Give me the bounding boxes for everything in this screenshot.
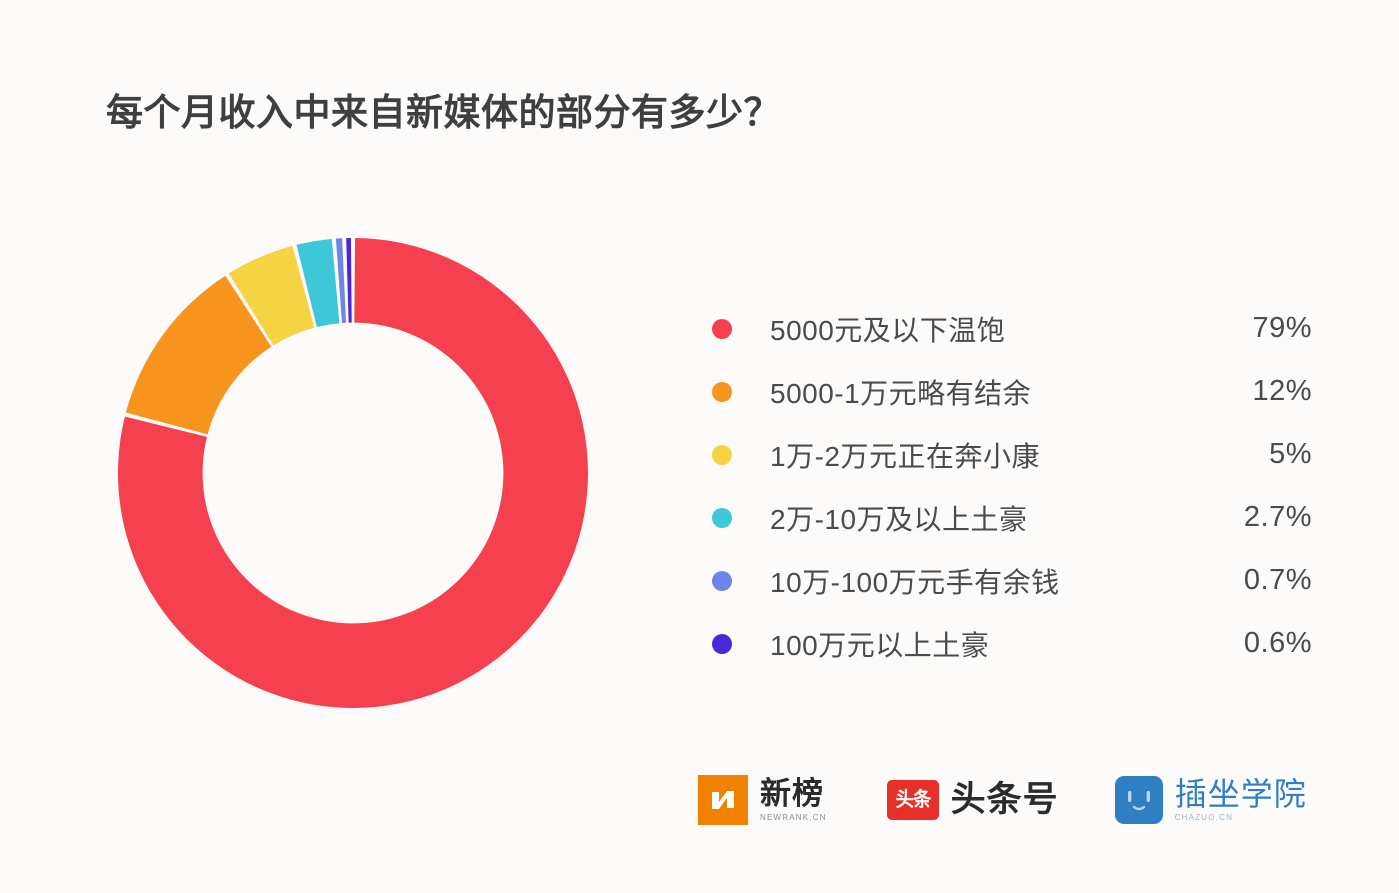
legend-item-label: 5000元及以下温饱 (770, 309, 1200, 349)
legend-item-value: 2.7% (1200, 501, 1312, 534)
logo-name: 插坐学院 (1175, 778, 1307, 811)
logo-tagline: CHAZUO.CN (1175, 813, 1307, 822)
legend-item[interactable]: 2万-10万及以上土豪 2.7% (712, 486, 1312, 549)
legend-item-label: 1万-2万元正在奔小康 (770, 435, 1200, 475)
legend-color-swatch-icon (712, 571, 732, 591)
legend-item[interactable]: 10万-100万元手有余钱 0.7% (712, 549, 1312, 612)
legend-item-value: 79% (1200, 312, 1312, 345)
chart-legend: 5000元及以下温饱 79% 5000-1万元略有结余 12% 1万-2万元正在… (712, 297, 1312, 675)
footer-logo-bar: 新榜 NEWRANK.CN 头条 头条号 插坐学院 CHAZUO.CN (698, 775, 1307, 825)
legend-item-value: 5% (1200, 438, 1312, 471)
logo-newrank[interactable]: 新榜 NEWRANK.CN (698, 775, 827, 825)
legend-item-label: 2万-10万及以上土豪 (770, 498, 1200, 538)
legend-item-value: 0.6% (1200, 627, 1312, 660)
legend-item[interactable]: 100万元以上土豪 0.6% (712, 612, 1312, 675)
toutiaohao-text: 头条号 (951, 782, 1059, 818)
legend-color-swatch-icon (712, 445, 732, 465)
legend-item-label: 100万元以上土豪 (770, 624, 1200, 664)
toutiao-mark-label: 头条 (895, 790, 930, 810)
legend-item-label: 5000-1万元略有结余 (770, 372, 1200, 412)
legend-color-swatch-icon (712, 634, 732, 654)
donut-chart-svg (118, 238, 588, 708)
newrank-zigzag-icon (708, 785, 738, 815)
legend-item[interactable]: 5000-1万元略有结余 12% (712, 360, 1312, 423)
newrank-text: 新榜 NEWRANK.CN (760, 778, 827, 822)
legend-item-value: 0.7% (1200, 564, 1312, 597)
chazuo-face-icon (1122, 787, 1156, 813)
logo-chazuo-xueyuan[interactable]: 插坐学院 CHAZUO.CN (1115, 776, 1307, 824)
donut-slice-group (118, 238, 588, 708)
legend-item[interactable]: 5000元及以下温饱 79% (712, 297, 1312, 360)
page-title: 每个月收入中来自新媒体的部分有多少？ (106, 82, 781, 136)
legend-item-value: 12% (1200, 375, 1312, 408)
legend-item-label: 10万-100万元手有余钱 (770, 561, 1200, 601)
legend-color-swatch-icon (712, 319, 732, 339)
newrank-mark-icon (698, 775, 748, 825)
legend-color-swatch-icon (712, 382, 732, 402)
logo-toutiaohao[interactable]: 头条 头条号 (887, 780, 1059, 820)
logo-name: 新榜 (760, 778, 827, 810)
chazuo-text: 插坐学院 CHAZUO.CN (1175, 778, 1307, 823)
legend-item[interactable]: 1万-2万元正在奔小康 5% (712, 423, 1312, 486)
donut-slice[interactable] (346, 238, 351, 323)
legend-color-swatch-icon (712, 508, 732, 528)
logo-tagline: NEWRANK.CN (760, 813, 827, 822)
chazuo-mark-icon (1115, 776, 1163, 824)
toutiao-mark-icon: 头条 (887, 780, 939, 820)
logo-name: 头条号 (951, 782, 1059, 818)
donut-chart (118, 238, 588, 708)
